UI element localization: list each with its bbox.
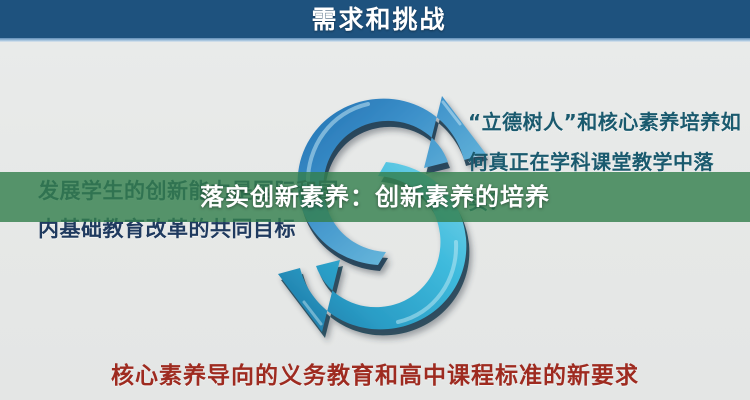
bottom-text-block: 核心素养导向的义务教育和高中课程标准的新要求: [0, 356, 750, 390]
presentation-slide: 需求和挑战: [0, 0, 750, 400]
caption-overlay-band: 落实创新素养：创新素养的培养: [0, 172, 750, 222]
slide-header-band: 需求和挑战: [0, 0, 750, 38]
page-title: 需求和挑战: [303, 7, 446, 32]
caption-text: 落实创新素养：创新素养的培养: [200, 185, 550, 209]
